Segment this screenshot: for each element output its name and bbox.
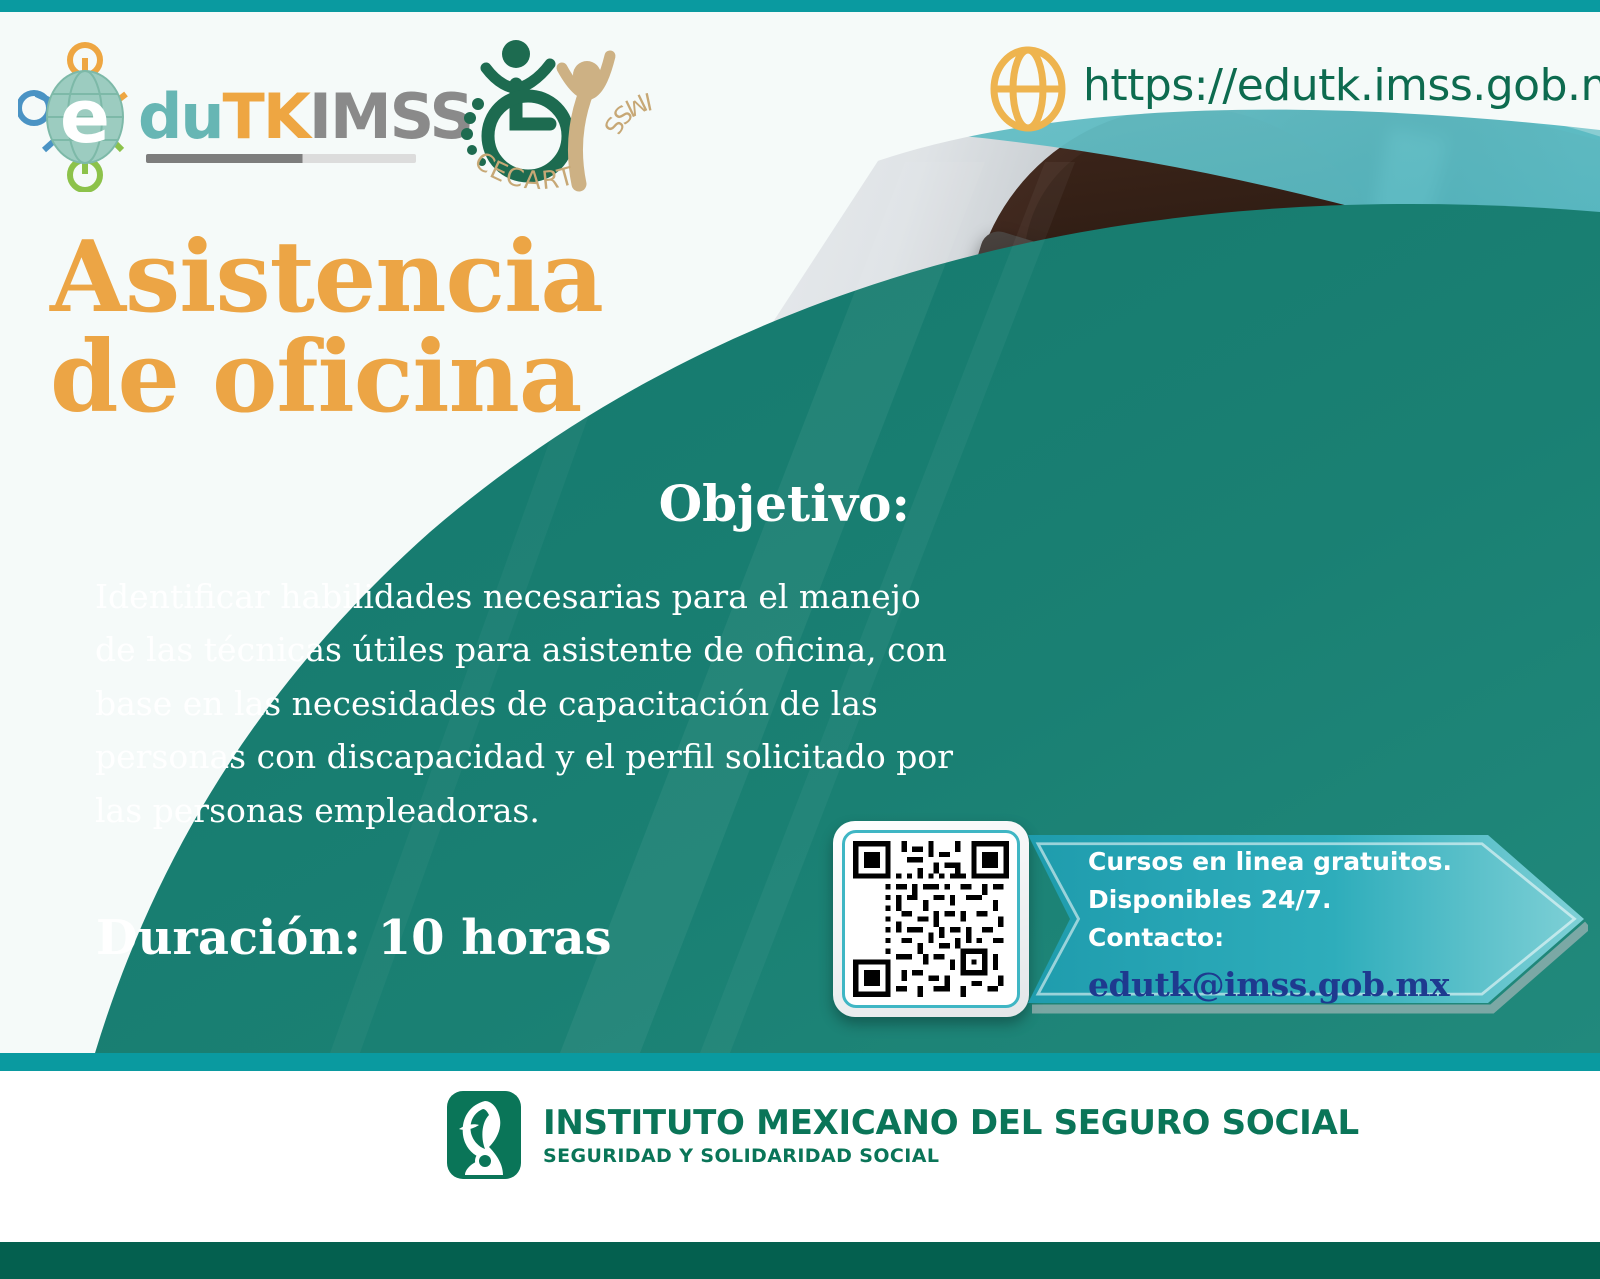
qr-code-card[interactable]: [833, 821, 1029, 1017]
promo-line-3: Contacto:: [1088, 923, 1224, 952]
contact-text-block: Cursos en linea gratuitos. Disponibles 2…: [1088, 843, 1488, 1010]
promo-line-1: Cursos en linea gratuitos.: [1088, 847, 1452, 876]
promo-line-2: Disponibles 24/7.: [1088, 885, 1331, 914]
cecart-imss-label: IMSS: [597, 87, 654, 140]
imss-wordmark: INSTITUTO MEXICANO DEL SEGURO SOCIAL SEG…: [543, 1103, 1359, 1167]
mid-teal-rail: [0, 1053, 1600, 1071]
edutk-tk: TK: [223, 80, 309, 153]
edutk-globe-icon: e: [18, 42, 153, 192]
imss-eagle-logo: [445, 1089, 523, 1181]
top-teal-rail: [0, 0, 1600, 12]
page-title: Asistencia de oficina: [50, 230, 690, 426]
objective-body: Identificar habilidades necesarias para …: [95, 570, 965, 837]
poster-root: e duTKIMSS: [0, 0, 1600, 1279]
edutk-imss: IMSS: [309, 80, 472, 153]
main-stage: e duTKIMSS: [0, 12, 1600, 1053]
objective-heading: Objetivo:: [640, 474, 910, 533]
cecart-logo[interactable]: CECART IMSS: [450, 32, 665, 197]
imss-tagline: SEGURIDAD Y SOLIDARIDAD SOCIAL: [543, 1145, 1359, 1167]
qr-code[interactable]: [853, 841, 1009, 997]
edutk-progress-bar: [146, 154, 416, 163]
edutk-du: du: [138, 80, 223, 153]
edutk-logo[interactable]: e duTKIMSS: [18, 42, 418, 192]
contact-email[interactable]: edutk@imss.gob.mx: [1088, 960, 1488, 1010]
header-row: e duTKIMSS: [0, 24, 1600, 204]
globe-icon: [985, 46, 1071, 132]
qr-code-frame: [842, 830, 1020, 1008]
imss-footer-logo: INSTITUTO MEXICANO DEL SEGURO SOCIAL SEG…: [445, 1089, 1359, 1181]
cecart-wheelchair-icon: CECART IMSS: [450, 32, 665, 197]
title-line-2: de oficina: [50, 330, 690, 426]
duration-text: Duración: 10 horas: [96, 910, 612, 966]
footer: INSTITUTO MEXICANO DEL SEGURO SOCIAL SEG…: [0, 1071, 1600, 1242]
website-url-text[interactable]: https://edutk.imss.gob.mx/: [1083, 60, 1600, 111]
svg-text:e: e: [60, 74, 110, 160]
edutk-wordmark: duTKIMSS: [138, 80, 472, 153]
title-line-1: Asistencia: [50, 220, 603, 335]
contact-banner[interactable]: Cursos en linea gratuitos. Disponibles 2…: [1028, 823, 1588, 1015]
imss-institution-name: INSTITUTO MEXICANO DEL SEGURO SOCIAL: [543, 1103, 1359, 1143]
bottom-green-rail: [0, 1242, 1600, 1279]
svg-text:IMSS: IMSS: [597, 87, 654, 140]
website-url-block[interactable]: https://edutk.imss.gob.mx/: [985, 46, 1071, 138]
